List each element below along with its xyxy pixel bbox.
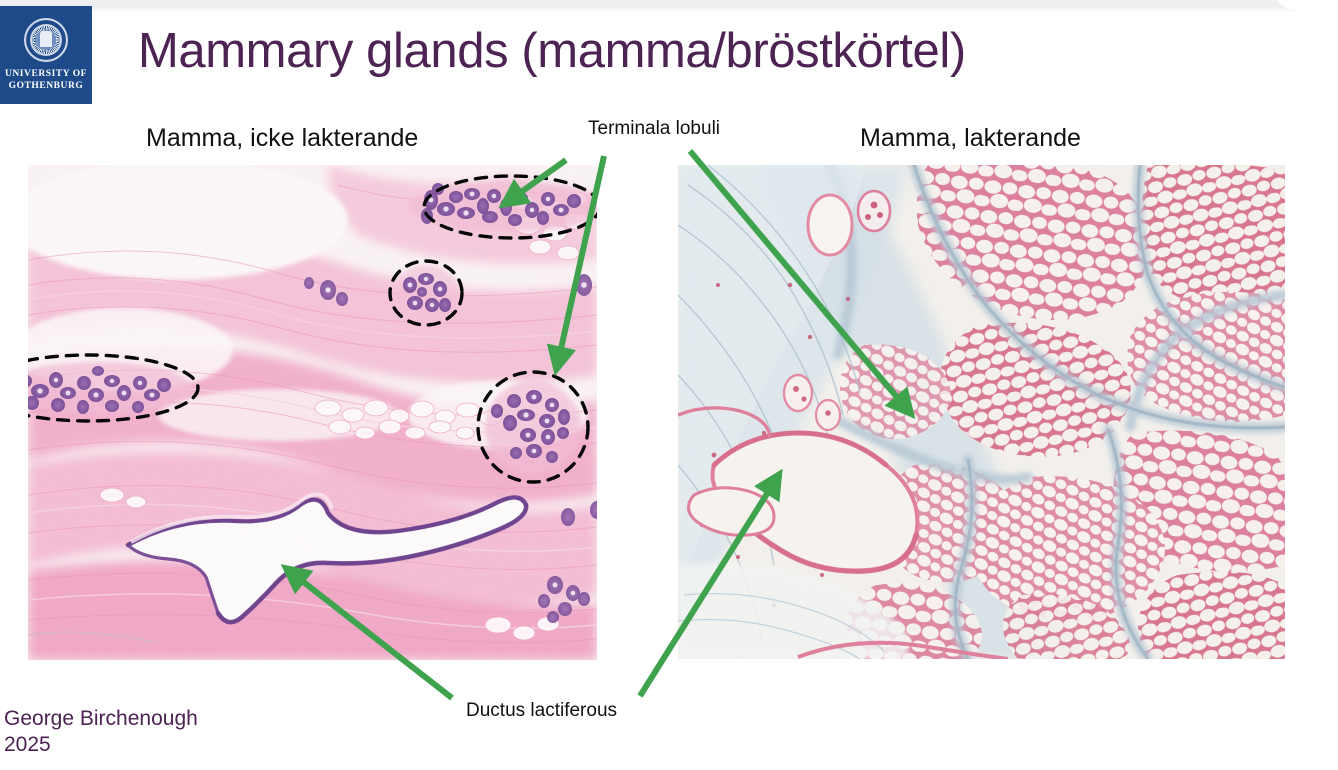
slide-footer: George Birchenough 2025 (4, 706, 198, 758)
footer-year: 2025 (4, 732, 198, 758)
micrograph-lactating (678, 165, 1285, 659)
university-of-gothenburg-logo: UNIVERSITY OF GOTHENBURG (0, 6, 92, 104)
university-seal-icon (24, 18, 68, 62)
label-ductus-lactiferous: Ductus lactiferous (466, 700, 617, 722)
micrograph-non-lactating (28, 165, 597, 660)
footer-author: George Birchenough (4, 706, 198, 732)
label-terminala-lobuli: Terminala lobuli (588, 118, 720, 140)
logo-line-1: UNIVERSITY OF (5, 68, 87, 80)
caption-non-lactating: Mamma, icke lakterande (146, 124, 418, 153)
micrograph-non-lactating-render (28, 165, 597, 660)
micrograph-lactating-render (678, 165, 1285, 659)
logo-line-2: GOTHENBURG (9, 80, 84, 92)
slide-top-edge (0, 0, 1338, 12)
caption-lactating: Mamma, lakterande (860, 124, 1081, 153)
slide-title: Mammary glands (mamma/bröstkörtel) (138, 22, 966, 80)
